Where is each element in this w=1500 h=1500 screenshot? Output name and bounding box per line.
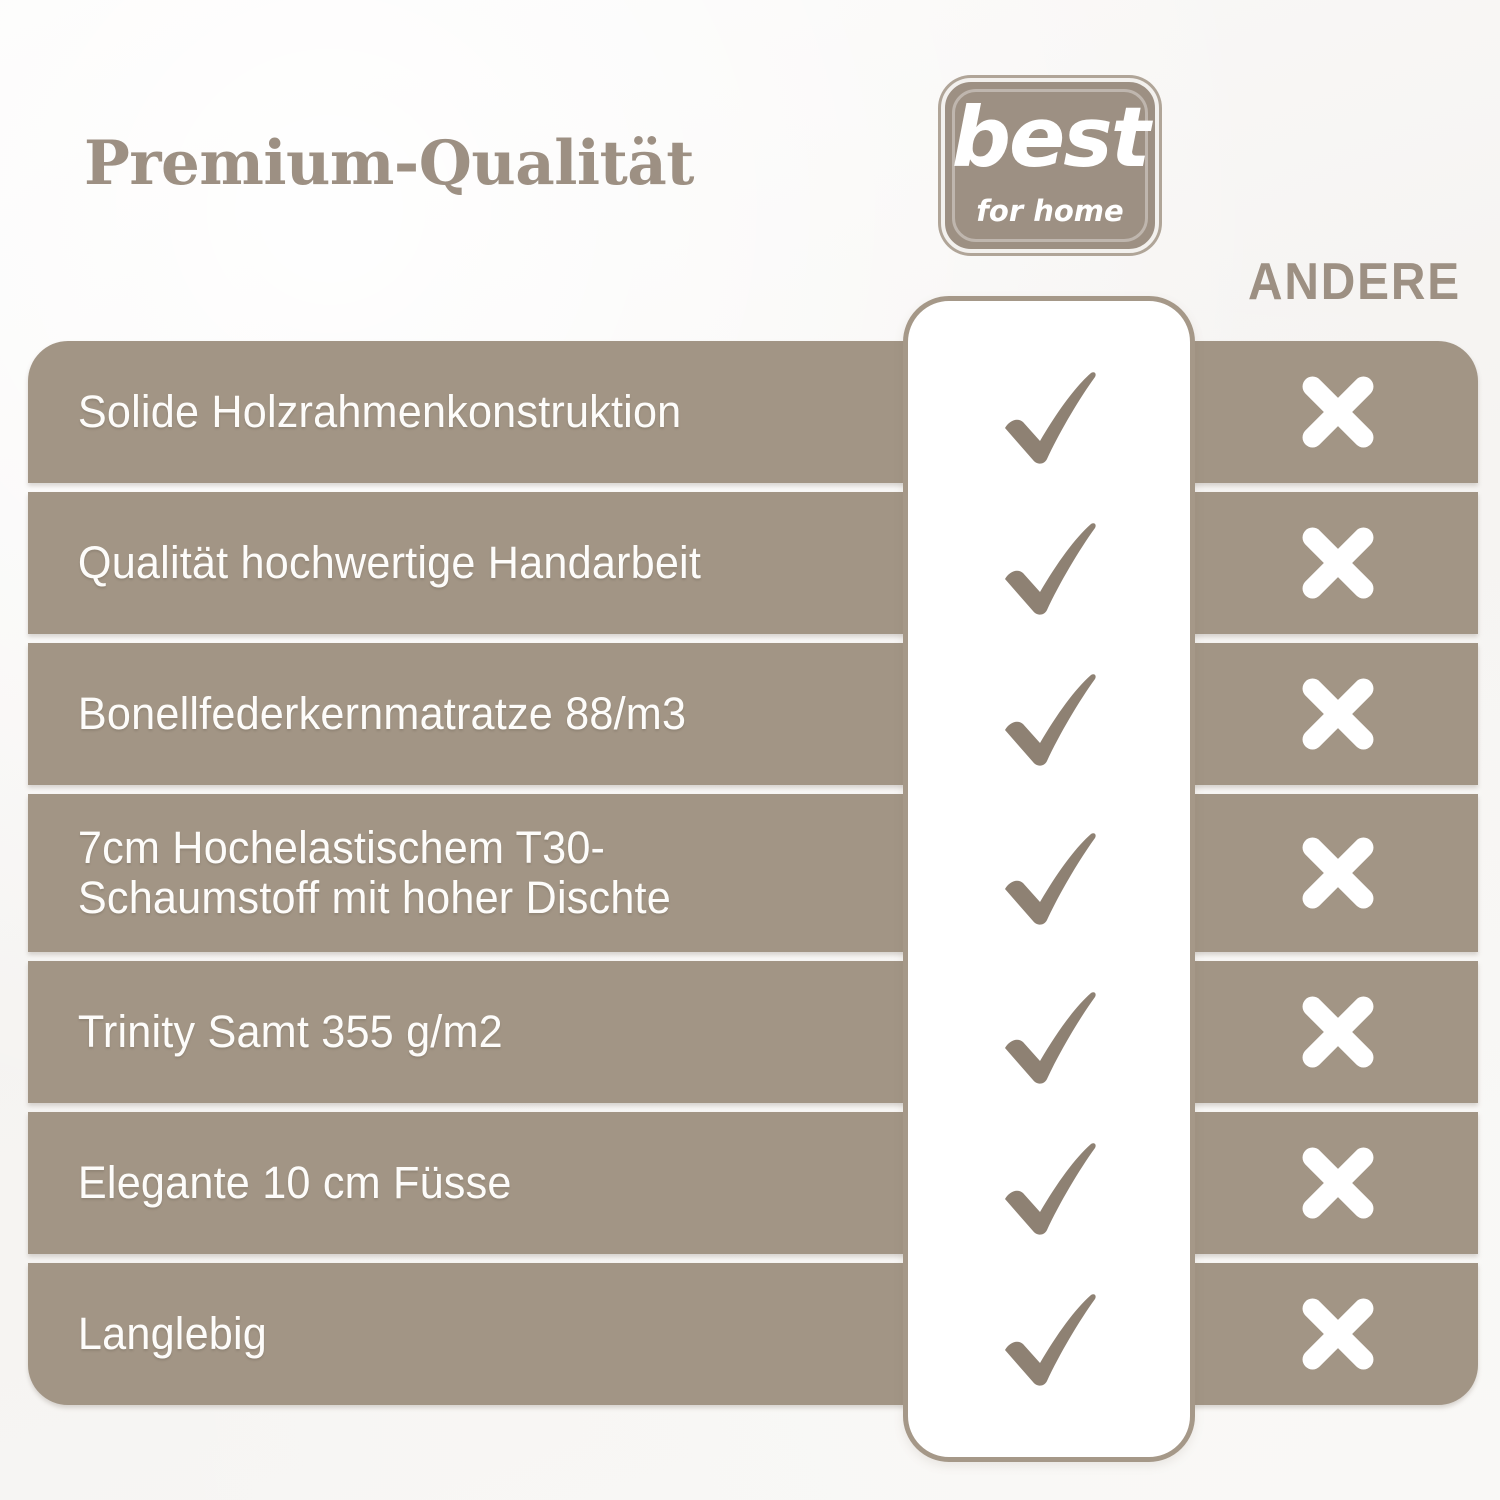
competitor-column-header: ANDERE [1248,252,1461,312]
infographic-canvas: Premium-Qualität best for home ANDERE So… [0,0,1500,1500]
brand-check-5 [908,1138,1190,1238]
brand-check-0 [908,367,1190,467]
check-icon [997,828,1101,928]
brand-check-3 [908,828,1190,928]
brand-column-highlight [903,296,1195,1462]
cross-icon [1292,1288,1384,1380]
brand-check-4 [908,987,1190,1087]
brand-logo-badge: best for home [941,78,1159,253]
cross-icon [1292,827,1384,919]
feature-label: Trinity Samt 355 g/m2 [28,1007,873,1057]
cross-icon [1292,517,1384,609]
table-row: Trinity Samt 355 g/m2 [28,961,1478,1103]
cross-icon [1292,366,1384,458]
feature-label: Qualität hochwertige Handarbeit [28,538,873,588]
comparison-table: Solide HolzrahmenkonstruktionQualität ho… [28,341,1478,1405]
cross-icon [1292,668,1384,760]
check-icon [997,669,1101,769]
table-row: 7cm Hochelastischem T30-Schaumstoff mit … [28,794,1478,952]
feature-label: Langlebig [28,1309,873,1359]
brand-check-6 [908,1289,1190,1389]
check-icon [997,1138,1101,1238]
brand-checkmark-group [908,301,1190,1457]
check-icon [997,987,1101,1087]
competitor-cell [1198,668,1478,760]
competitor-cell [1198,986,1478,1078]
cross-icon [1292,1137,1384,1229]
check-icon [997,1289,1101,1389]
table-row: Solide Holzrahmenkonstruktion [28,341,1478,483]
logo-brand-text: best [945,96,1155,179]
competitor-cell [1198,366,1478,458]
feature-label: 7cm Hochelastischem T30-Schaumstoff mit … [28,823,873,924]
brand-check-1 [908,518,1190,618]
logo-tagline-text: for home [945,194,1155,228]
table-row: Bonellfederkernmatratze 88/m3 [28,643,1478,785]
cross-icon [1292,986,1384,1078]
table-row: Qualität hochwertige Handarbeit [28,492,1478,634]
check-icon [997,367,1101,467]
feature-label: Elegante 10 cm Füsse [28,1158,873,1208]
feature-label: Bonellfederkernmatratze 88/m3 [28,689,873,739]
competitor-cell [1198,1288,1478,1380]
table-row: Langlebig [28,1263,1478,1405]
brand-check-2 [908,669,1190,769]
table-row: Elegante 10 cm Füsse [28,1112,1478,1254]
page-title: Premium-Qualität [84,128,694,199]
competitor-cell [1198,1137,1478,1229]
feature-label: Solide Holzrahmenkonstruktion [28,387,873,437]
competitor-cell [1198,517,1478,609]
competitor-cell [1198,827,1478,919]
check-icon [997,518,1101,618]
